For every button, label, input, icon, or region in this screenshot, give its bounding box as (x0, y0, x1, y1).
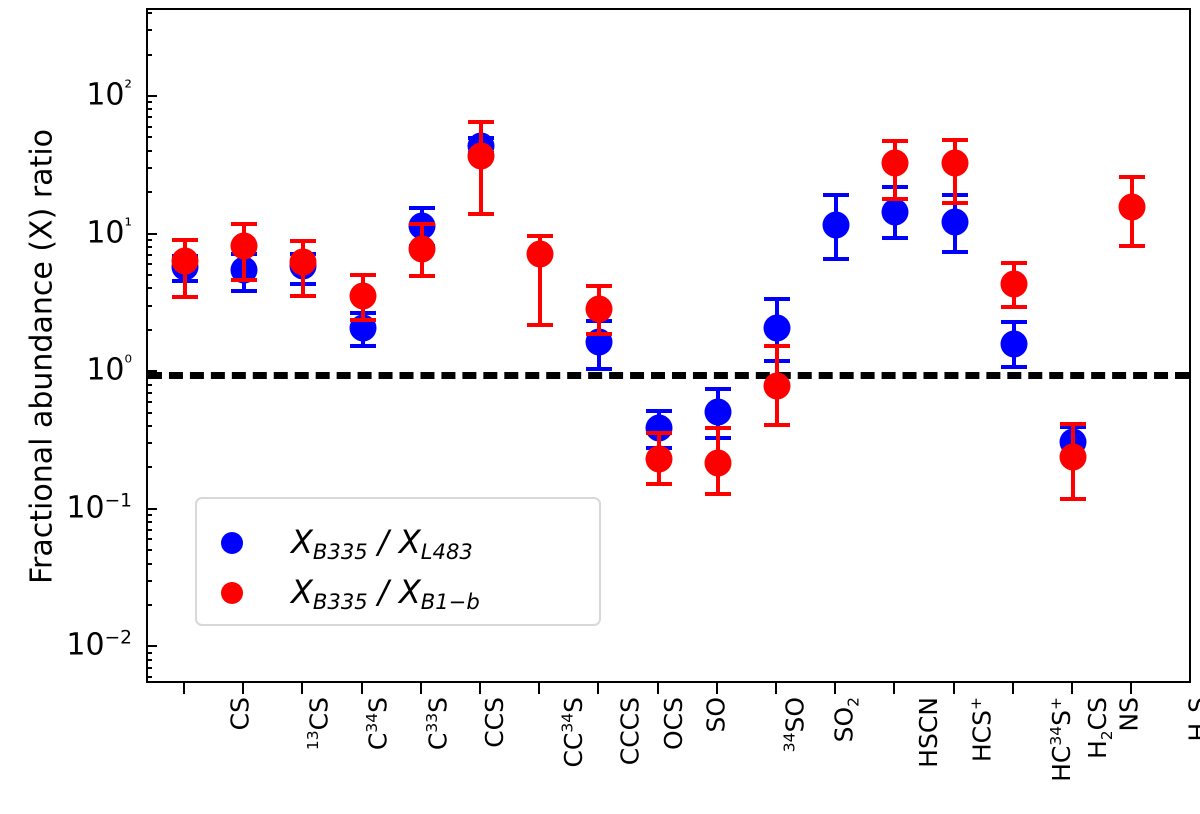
y-axis-minor-tick (146, 376, 152, 378)
error-bar-cap-lower (527, 323, 553, 327)
error-bar-cap-upper (290, 239, 316, 243)
error-bar-cap-upper (705, 426, 731, 430)
y-axis-minor-tick (146, 254, 152, 256)
x-axis-tick-label: C34S (363, 697, 392, 750)
error-bar-cap-upper (882, 139, 908, 143)
error-bar-cap-lower (586, 367, 612, 371)
y-axis-minor-tick (146, 150, 152, 152)
y-axis-tick-label: 10¹ (86, 215, 132, 250)
y-axis-minor-tick (146, 412, 152, 414)
y-axis-minor-tick (146, 676, 152, 678)
data-point-marker (468, 143, 495, 170)
y-axis-minor-tick (146, 116, 152, 118)
x-axis-tick (716, 683, 718, 694)
y-axis-minor-tick (146, 659, 152, 661)
legend-marker-dot (221, 532, 243, 554)
legend-entry-b335-over-l483[interactable]: XB335 / XL483 (221, 523, 473, 564)
y-axis-minor-tick (146, 246, 152, 248)
y-axis-minor-tick (146, 29, 152, 31)
y-axis-tick-label: 10−2 (66, 628, 132, 663)
error-bar-cap-lower (942, 250, 968, 254)
y-axis-minor-tick (146, 126, 152, 128)
x-axis-tick (1130, 683, 1132, 694)
data-point-marker (882, 150, 909, 177)
error-bar-cap-upper (705, 387, 731, 391)
y-axis-minor-tick (146, 191, 152, 193)
data-point-marker (527, 241, 554, 268)
data-point-marker (645, 445, 672, 472)
x-axis-tick (953, 683, 955, 694)
y-axis-tick-label: 10−1 (66, 490, 132, 525)
y-axis-minor-tick (146, 167, 152, 169)
error-bar-cap-upper (1001, 320, 1027, 324)
error-bar-cap-upper (468, 120, 494, 124)
y-axis-major-tick (146, 508, 157, 510)
data-point-marker (704, 399, 731, 426)
error-bar-cap-lower (705, 492, 731, 496)
x-axis-tick-label: 13CS (304, 697, 333, 750)
data-point-marker (290, 249, 317, 276)
plot-area: XB335 / XL483XB335 / XB1−b (146, 8, 1191, 683)
x-axis-tick-label: HSCN (914, 697, 943, 768)
error-bar-cap-upper (527, 234, 553, 238)
data-point-marker (882, 198, 909, 225)
x-axis-tick-label: 34SO (780, 697, 809, 752)
legend-entry-label: XB335 / XL483 (291, 523, 473, 564)
error-bar-cap-lower (882, 236, 908, 240)
y-axis-minor-tick (146, 329, 152, 331)
x-axis-tick-label: CC34S (559, 697, 588, 768)
error-bar-cap-lower (586, 332, 612, 336)
x-axis-tick (538, 683, 540, 694)
x-axis-tick (834, 683, 836, 694)
error-bar-cap-upper (231, 222, 257, 226)
error-bar-cap-lower (468, 212, 494, 216)
data-point-marker (764, 372, 791, 399)
error-bar-cap-lower (764, 423, 790, 427)
figure-canvas: Fractional abundance (X) ratio XB335 / X… (0, 0, 1200, 814)
y-axis-major-tick (146, 233, 157, 235)
legend-marker-dot (221, 582, 243, 604)
error-bar-cap-upper (586, 284, 612, 288)
data-point-marker (941, 209, 968, 236)
y-axis-minor-tick (146, 538, 152, 540)
x-axis-tick (361, 683, 363, 694)
error-bar-cap-lower (231, 289, 257, 293)
error-bar-cap-lower (172, 295, 198, 299)
data-point-marker (1000, 270, 1027, 297)
y-axis-minor-tick (146, 521, 152, 523)
y-axis-minor-tick (146, 274, 152, 276)
data-point-marker (704, 449, 731, 476)
x-axis-tick (242, 683, 244, 694)
y-axis-minor-tick (146, 466, 152, 468)
x-axis-tick-label: NS (1115, 697, 1144, 732)
error-bar-cap-upper (823, 193, 849, 197)
y-axis-title: Fractional abundance (X) ratio (25, 77, 60, 637)
error-bar-cap-lower (646, 482, 672, 486)
error-bar-cap-lower (409, 274, 435, 278)
y-axis-minor-tick (146, 239, 152, 241)
error-bar-cap-lower (1001, 305, 1027, 309)
x-axis-tick (1012, 683, 1014, 694)
y-axis-minor-tick (146, 442, 152, 444)
x-axis-tick (479, 683, 481, 694)
x-axis-tick (301, 683, 303, 694)
data-point-marker (764, 314, 791, 341)
x-axis-tick (597, 683, 599, 694)
y-axis-minor-tick (146, 108, 152, 110)
error-bar-cap-upper (646, 409, 672, 413)
error-bar-cap-lower (942, 201, 968, 205)
error-bar-cap-lower (1060, 497, 1086, 501)
data-point-marker (1119, 193, 1146, 220)
y-axis-minor-tick (146, 384, 152, 386)
data-point-marker (408, 236, 435, 263)
data-point-marker (349, 282, 376, 309)
y-axis-minor-tick (146, 101, 152, 103)
x-axis-tick (420, 683, 422, 694)
x-axis-tick (183, 683, 185, 694)
y-axis-tick-label: 10² (86, 78, 132, 113)
y-axis-major-tick (146, 645, 157, 647)
y-axis-minor-tick (146, 136, 152, 138)
y-axis-minor-tick (146, 392, 152, 394)
error-bar-cap-upper (1119, 175, 1145, 179)
error-bar-cap-lower (231, 278, 257, 282)
x-axis-tick-label: H2CS (1083, 697, 1116, 759)
x-axis-tick-label: C33S (423, 697, 452, 750)
x-axis-tick (775, 683, 777, 694)
x-axis-tick-label: HCS+ (968, 697, 997, 762)
error-bar-cap-upper (172, 238, 198, 242)
error-bar-cap-upper (350, 273, 376, 277)
y-axis-minor-tick (146, 12, 152, 14)
data-point-marker (1000, 331, 1027, 358)
x-axis-tick-label: CCCS (615, 697, 644, 765)
error-bar-cap-upper (1001, 261, 1027, 265)
error-bar-cap-upper (764, 344, 790, 348)
x-axis-tick-label: CS (225, 697, 254, 730)
y-axis-minor-tick (146, 652, 152, 654)
data-point-marker (172, 248, 199, 275)
error-bar-cap-upper (1060, 422, 1086, 426)
x-axis-tick-label: OCS (659, 697, 688, 750)
y-axis-minor-tick (146, 425, 152, 427)
y-axis-minor-tick (146, 401, 152, 403)
data-point-marker (586, 295, 613, 322)
legend-box: XB335 / XL483XB335 / XB1−b (195, 497, 601, 626)
x-axis-tick (1071, 683, 1073, 694)
error-bar-cap-lower (350, 318, 376, 322)
data-point-marker (941, 150, 968, 177)
error-bar-cap-upper (942, 138, 968, 142)
y-axis-minor-tick (146, 514, 152, 516)
error-bar-cap-lower (1001, 365, 1027, 369)
error-bar-cap-upper (409, 206, 435, 210)
error-bar-cap-lower (290, 294, 316, 298)
y-axis-major-tick (146, 370, 157, 372)
x-axis-tick-label: SO2 (829, 697, 862, 742)
legend-entry-label: XB335 / XB1−b (291, 573, 480, 614)
unity-reference-line (148, 372, 1189, 379)
y-axis-major-tick (146, 95, 157, 97)
data-point-marker (823, 211, 850, 238)
x-axis-tick (893, 683, 895, 694)
y-axis-minor-tick (146, 580, 152, 582)
y-axis-minor-tick (146, 604, 152, 606)
legend-entry-b335-over-b1b[interactable]: XB335 / XB1−b (221, 573, 480, 614)
error-bar-cap-lower (882, 197, 908, 201)
error-bar-cap-upper (646, 431, 672, 435)
x-axis-tick (657, 683, 659, 694)
error-bar-cap-upper (409, 222, 435, 226)
y-axis-minor-tick (146, 287, 152, 289)
y-axis-minor-tick (146, 563, 152, 565)
data-point-marker (1060, 444, 1087, 471)
y-axis-minor-tick (146, 549, 152, 551)
error-bar-cap-lower (1119, 244, 1145, 248)
error-bar-cap-lower (350, 344, 376, 348)
x-axis-tick-label: SO (701, 697, 730, 733)
error-bar-cap-lower (823, 257, 849, 261)
y-axis-tick-label: 10⁰ (86, 353, 132, 388)
error-bar-cap-upper (764, 297, 790, 301)
x-axis-tick-label: H2S (1184, 697, 1200, 742)
x-axis-tick-label: HC34S+ (1046, 697, 1075, 782)
data-point-marker (231, 233, 258, 260)
y-axis-minor-tick (146, 54, 152, 56)
y-axis-minor-tick (146, 529, 152, 531)
y-axis-minor-tick (146, 667, 152, 669)
x-axis-tick-label: CCS (480, 697, 509, 748)
y-axis-minor-tick (146, 305, 152, 307)
y-axis-minor-tick (146, 263, 152, 265)
